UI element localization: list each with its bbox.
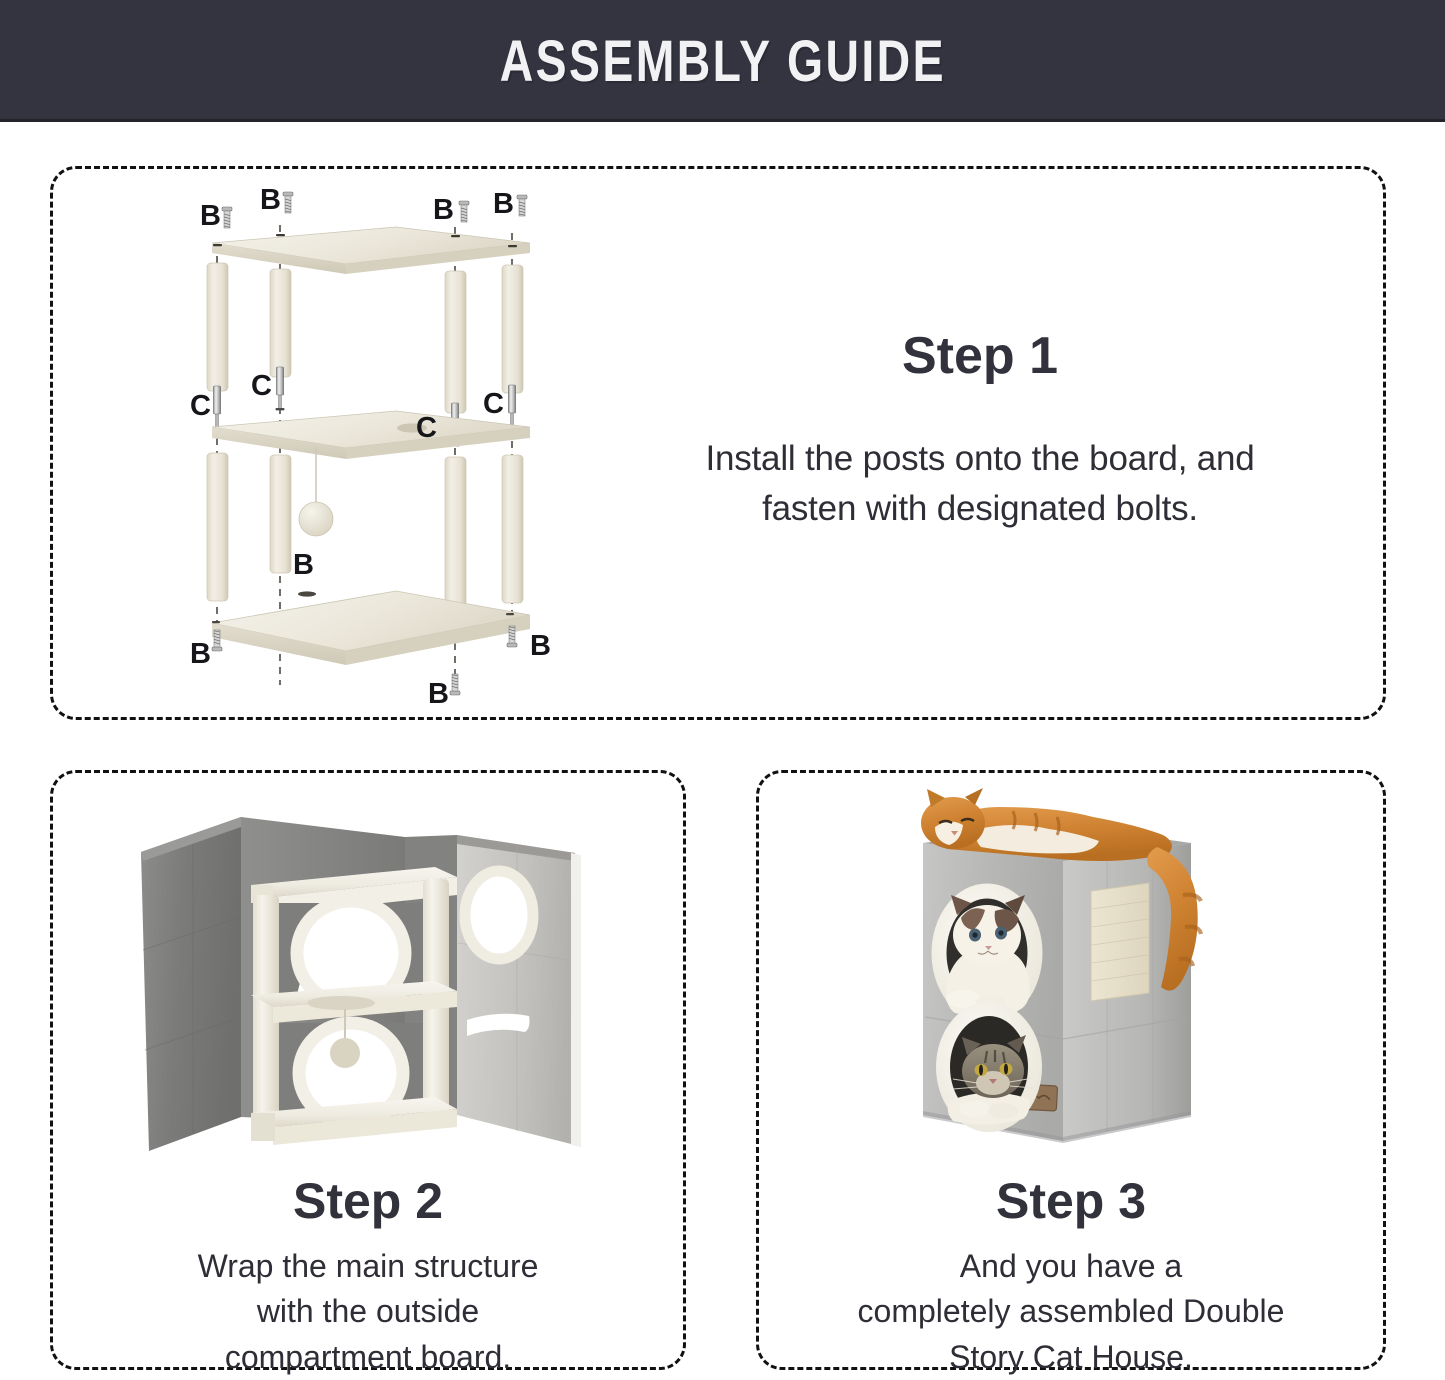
part-label-bolt: B	[260, 185, 281, 216]
step1-heading: Step 1	[610, 330, 1350, 382]
left-felt-flap	[141, 817, 241, 1151]
part-label-bolt: B	[530, 630, 551, 662]
part-label-connector: C	[416, 412, 437, 444]
top-board	[212, 227, 530, 274]
part-label-bolt: B	[428, 678, 449, 705]
part-label-connector: C	[251, 370, 272, 402]
step3-body-line1: And you have a	[762, 1244, 1380, 1289]
step3-text-block: Step 3 And you have a completely assembl…	[762, 1176, 1380, 1380]
wrapped-structure-photo	[105, 795, 645, 1170]
part-label-bolt: B	[190, 638, 211, 670]
main-plush-structure	[251, 867, 457, 1145]
part-label-bolt: B	[493, 188, 514, 220]
right-felt-flap	[457, 835, 581, 1147]
header-bar: ASSEMBLY GUIDE	[0, 0, 1445, 122]
step2-text-block: Step 2 Wrap the main structure with the …	[70, 1176, 666, 1380]
exploded-assembly-diagram: B B B B B B B B C C C C	[190, 185, 590, 705]
part-label-bolt: B	[433, 194, 454, 226]
part-label-connector: C	[190, 390, 211, 422]
step1-text-block: Step 1 Install the posts onto the board,…	[610, 330, 1350, 533]
step1-body: Install the posts onto the board, and fa…	[610, 434, 1350, 533]
step2-body-line1: Wrap the main structure	[70, 1244, 666, 1289]
step2-body: Wrap the main structure with the outside…	[70, 1244, 666, 1380]
step3-body-line2: completely assembled Double	[762, 1289, 1380, 1334]
hanging-ball-toy	[299, 447, 333, 536]
step1-body-line2: fasten with designated bolts.	[610, 484, 1350, 534]
step2-heading: Step 2	[70, 1176, 666, 1226]
step3-heading: Step 3	[762, 1176, 1380, 1226]
step3-body: And you have a completely assembled Doub…	[762, 1244, 1380, 1380]
step1-body-line1: Install the posts onto the board, and	[610, 434, 1350, 484]
scratching-pad-panel	[1091, 883, 1149, 1001]
step2-body-line3: compartment board.	[70, 1335, 666, 1380]
step2-body-line2: with the outside	[70, 1289, 666, 1334]
step3-body-line3: Story Cat House.	[762, 1335, 1380, 1380]
part-label-bolt: B	[200, 200, 221, 232]
finished-cat-house-photo	[895, 785, 1265, 1170]
bottom-board	[212, 591, 530, 665]
part-label-bolt: B	[293, 549, 314, 581]
page-title: ASSEMBLY GUIDE	[499, 28, 945, 95]
part-label-connector: C	[483, 388, 504, 420]
